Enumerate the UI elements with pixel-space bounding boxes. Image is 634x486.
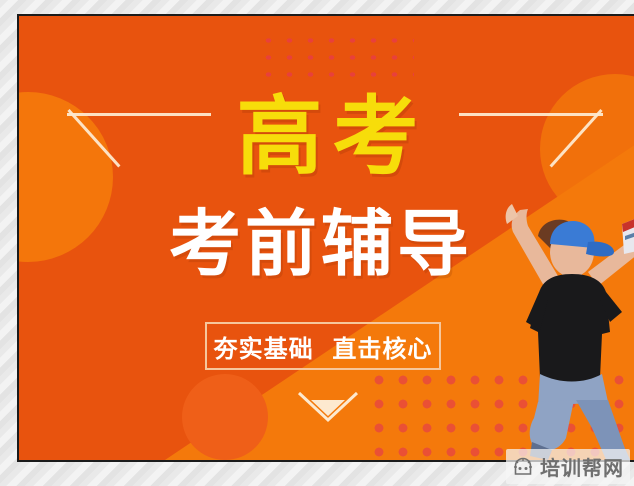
watermark: 培训帮网 xyxy=(506,449,630,484)
jumping-student-illustration xyxy=(482,202,634,462)
decorative-circle-lower xyxy=(182,374,268,460)
chevron-down-icon xyxy=(297,390,359,424)
tagline-text: 夯实基础 直击核心 xyxy=(214,329,433,364)
watermark-text: 培训帮网 xyxy=(540,452,624,481)
page-root: 高考 考前辅导 夯实基础 直击核心 xyxy=(0,0,634,486)
dot-pattern-top xyxy=(258,32,414,88)
book-icon xyxy=(622,216,634,254)
promo-banner: 高考 考前辅导 夯实基础 直击核心 xyxy=(17,14,634,462)
sun-face-icon xyxy=(512,456,534,478)
tagline-box: 夯实基础 直击核心 xyxy=(205,322,441,370)
headline-primary: 高考 xyxy=(19,94,634,180)
